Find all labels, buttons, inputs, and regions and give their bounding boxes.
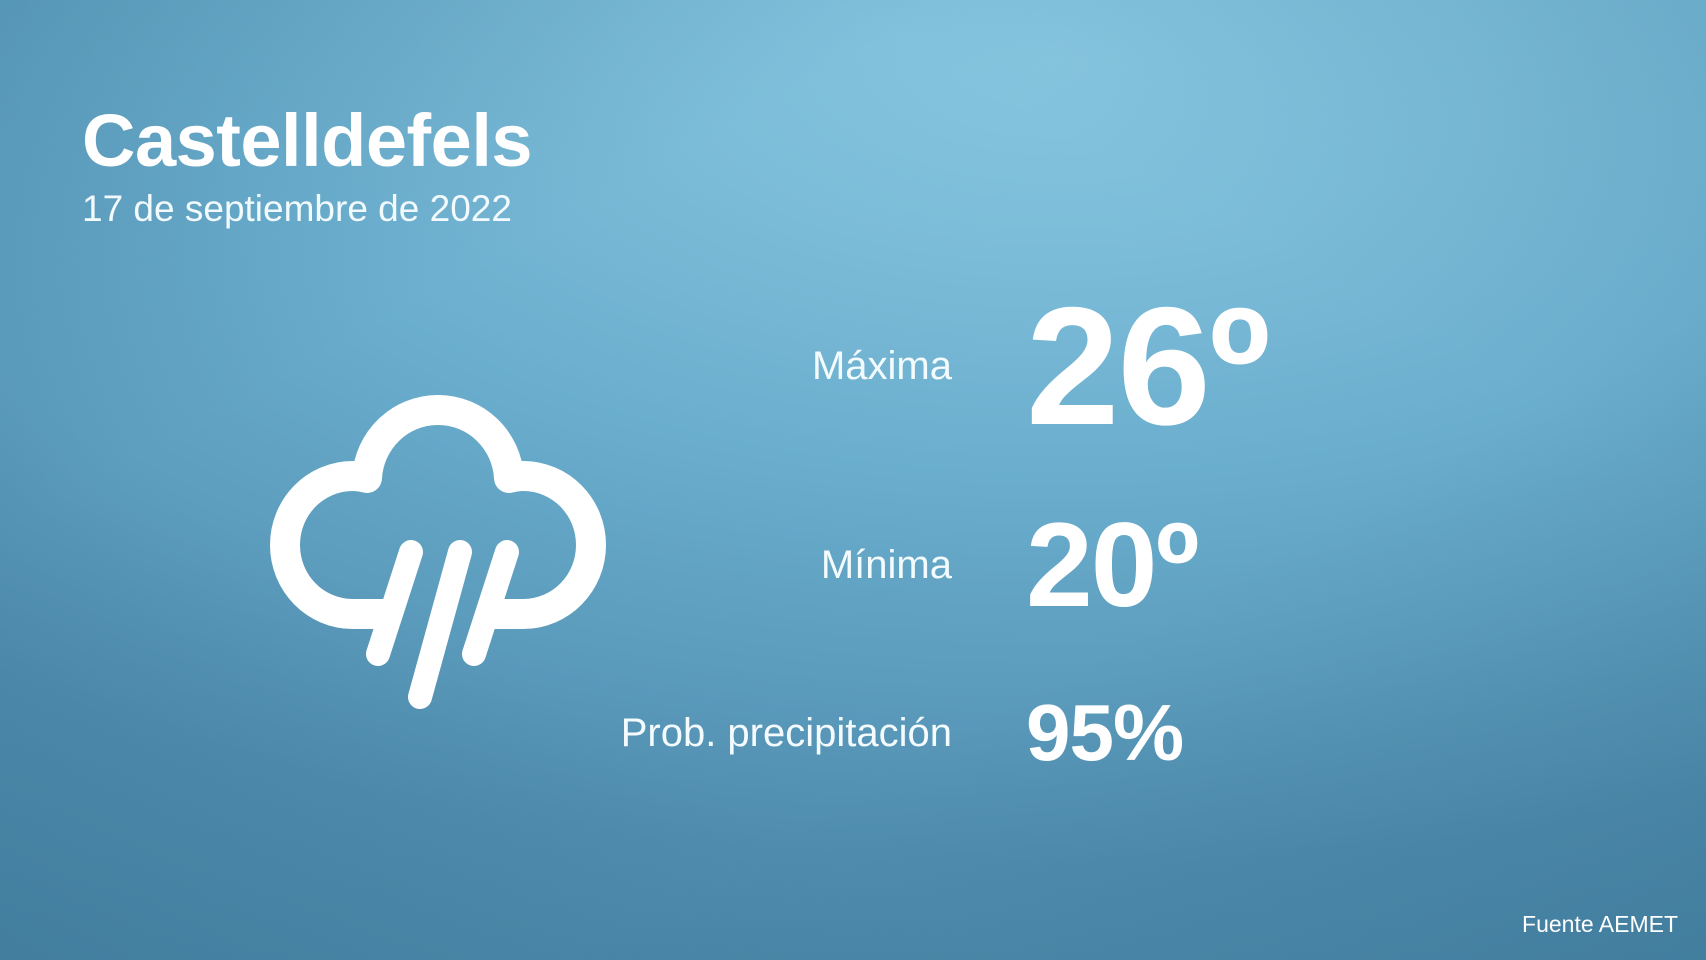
page-title: Castelldefels	[82, 104, 532, 178]
stats-list: Máxima 26º Mínima 20º Prob. precipitació…	[600, 282, 1416, 792]
rain-cloud-icon	[268, 392, 608, 722]
stat-row-minima: Mínima 20º	[600, 504, 1416, 626]
header: Castelldefels 17 de septiembre de 2022	[82, 104, 532, 227]
date-subtitle: 17 de septiembre de 2022	[82, 190, 532, 227]
stat-row-maxima: Máxima 26º	[600, 282, 1416, 450]
stat-value-precipitation: 95%	[1026, 693, 1416, 773]
stat-label-precipitation: Prob. precipitación	[621, 713, 952, 753]
source-attribution: Fuente AEMET	[1522, 911, 1678, 938]
weather-card: Castelldefels 17 de septiembre de 2022 M…	[0, 0, 1706, 960]
stat-row-precipitation: Prob. precipitación 95%	[600, 690, 1416, 776]
stat-label-minima: Mínima	[821, 545, 952, 585]
stat-value-minima: 20º	[1026, 505, 1416, 625]
stat-label-maxima: Máxima	[812, 346, 952, 386]
stat-value-maxima: 26º	[1026, 282, 1416, 450]
